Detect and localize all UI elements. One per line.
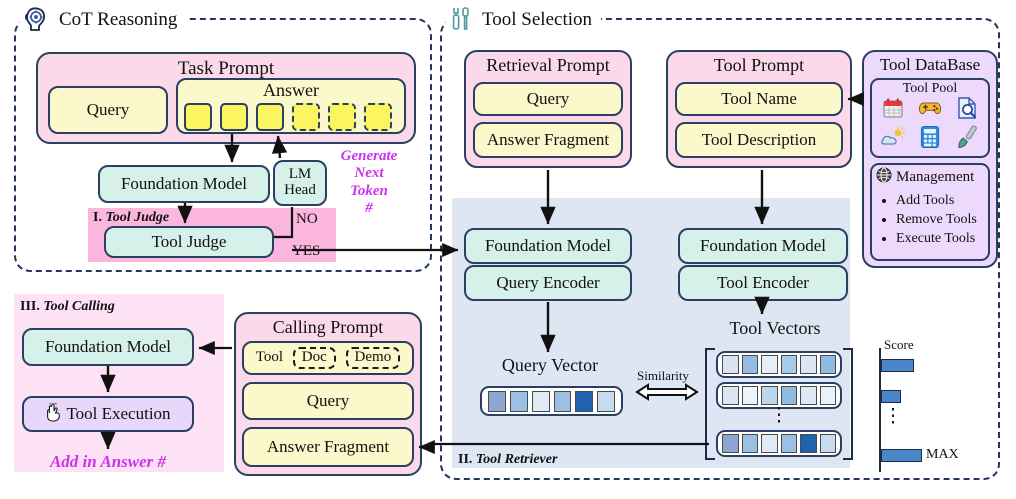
vector-cell <box>742 434 759 453</box>
calculator-icon[interactable] <box>920 125 940 154</box>
tool-vector-row-max <box>716 430 842 457</box>
tool-vectors-ellipsis: ⋮ <box>716 412 842 421</box>
vector-cell <box>488 391 506 412</box>
step-name-tool-judge: Tool Judge <box>105 210 169 225</box>
task-prompt-title: Task Prompt <box>38 59 414 79</box>
vector-cell <box>532 391 550 412</box>
step-number-3: III. <box>20 299 40 314</box>
vector-cell <box>575 391 593 412</box>
generate-next-token-note: Generate Next Token # <box>326 148 412 218</box>
answer-token-pending[interactable] <box>292 103 320 131</box>
tool-selection-header: Tool Selection <box>446 6 601 32</box>
vector-cell <box>781 434 798 453</box>
lm-head-box[interactable]: LM Head <box>273 160 327 206</box>
doc-chip[interactable]: Doc <box>293 347 336 369</box>
tool-judge-label: Tool Judge <box>152 233 227 251</box>
game-controller-icon[interactable] <box>918 97 942 124</box>
answer-token-pending[interactable] <box>328 103 356 131</box>
retrieval-field-label: Query <box>527 90 569 108</box>
query-foundation-model-box[interactable]: Foundation Model <box>464 228 632 264</box>
vector-cell <box>742 386 759 405</box>
answer-token-row <box>184 104 398 130</box>
tool-vectors-bracket-left <box>705 348 715 460</box>
vector-cell <box>510 391 528 412</box>
calling-prompt-field-answer-fragment[interactable]: Answer Fragment <box>242 427 414 467</box>
lm-head-label: LM Head <box>284 167 316 199</box>
globe-icon <box>876 167 892 188</box>
tool-chip-label: Tool <box>256 350 283 366</box>
vector-cell <box>722 434 739 453</box>
tool-prompt-field-tool-description[interactable]: Tool Description <box>675 122 843 158</box>
vector-cell <box>761 355 778 374</box>
step-name-tool-calling: Tool Calling <box>43 299 114 314</box>
query-vector <box>480 386 623 416</box>
wrench-screwdriver-icon <box>450 6 472 32</box>
calling-field-label: Query <box>307 392 349 410</box>
tool-retriever-step-label: II. Tool Retriever <box>458 452 557 468</box>
score-bar <box>881 390 901 403</box>
answer-token[interactable] <box>256 103 284 131</box>
retrieval-field-label: Answer Fragment <box>487 131 609 149</box>
tool-prompt-title: Tool Prompt <box>668 56 850 75</box>
score-bar <box>881 359 914 372</box>
branch-no-label: NO <box>296 211 318 228</box>
cot-reasoning-title: CoT Reasoning <box>54 10 182 29</box>
score-ellipsis: ⋮ <box>881 413 905 422</box>
tool-prompt-field-tool-name[interactable]: Tool Name <box>675 82 843 116</box>
vector-cell <box>742 355 759 374</box>
vector-cell <box>820 355 837 374</box>
management-header: Management <box>876 167 974 188</box>
query-label: Query <box>87 101 129 119</box>
tool-pool-title: Tool Pool <box>872 82 988 97</box>
vector-cell <box>722 355 739 374</box>
vector-cell <box>800 434 817 453</box>
tool-calling-band <box>14 294 224 472</box>
vector-cell <box>820 386 837 405</box>
cot-reasoning-header: CoT Reasoning <box>20 6 186 32</box>
add-in-answer-note: Add in Answer # <box>22 452 194 472</box>
generate-line-4: # <box>326 200 412 217</box>
tool-foundation-model-label: Foundation Model <box>700 237 826 255</box>
query-encoder-label: Query Encoder <box>496 274 599 292</box>
tool-vector-row <box>716 351 842 378</box>
tool-prompt-field-label: Tool Description <box>702 131 816 149</box>
calling-prompt-tool-row: Tool Doc Demo <box>242 341 414 375</box>
step-number-1: I. <box>93 210 102 225</box>
step-name-tool-retriever: Tool Retriever <box>476 452 558 467</box>
retrieval-prompt-field-query[interactable]: Query <box>473 82 623 116</box>
query-vector-label: Query Vector <box>470 355 630 376</box>
score-max-label: MAX <box>926 447 959 463</box>
vector-cell <box>781 386 798 405</box>
answer-token[interactable] <box>220 103 248 131</box>
answer-token[interactable] <box>184 103 212 131</box>
calling-prompt-title: Calling Prompt <box>236 318 420 337</box>
calendar-icon[interactable] <box>882 97 904 124</box>
tool-database-title: Tool DataBase <box>864 56 996 74</box>
weather-icon[interactable] <box>881 127 905 152</box>
vector-cell <box>722 386 739 405</box>
generate-line-2: Next <box>326 165 412 182</box>
answer-token-pending[interactable] <box>364 103 392 131</box>
calling-field-label: Answer Fragment <box>267 438 389 456</box>
vector-cell <box>800 386 817 405</box>
tool-vectors-bracket-right <box>843 348 853 460</box>
tool-execution-label: Tool Execution <box>66 405 170 423</box>
tool-judge-box[interactable]: Tool Judge <box>104 226 274 258</box>
step-number-2: II. <box>458 452 472 467</box>
vector-cell <box>554 391 572 412</box>
tool-foundation-model-box[interactable]: Foundation Model <box>678 228 848 264</box>
vector-cell <box>761 434 778 453</box>
similarity-label: Similarity <box>629 368 697 384</box>
list-item[interactable]: Add Tools <box>896 192 988 211</box>
cot-foundation-model-box[interactable]: Foundation Model <box>98 165 270 203</box>
tool-encoder-box[interactable]: Tool Encoder <box>678 265 848 301</box>
query-encoder-box[interactable]: Query Encoder <box>464 265 632 301</box>
retrieval-prompt-field-answer-fragment[interactable]: Answer Fragment <box>473 122 623 158</box>
management-list: Add Tools Remove Tools Execute Tools <box>882 192 988 249</box>
retrieval-prompt-title: Retrieval Prompt <box>466 56 630 75</box>
query-foundation-model-label: Foundation Model <box>485 237 611 255</box>
demo-chip[interactable]: Demo <box>346 347 401 369</box>
calling-foundation-model-label: Foundation Model <box>45 338 171 356</box>
vector-cell <box>820 434 837 453</box>
tool-pool-icon-grid <box>874 96 986 154</box>
tool-prompt-field-label: Tool Name <box>721 90 797 108</box>
document-search-icon[interactable] <box>956 96 978 125</box>
management-title: Management <box>896 169 974 186</box>
list-item[interactable]: Remove Tools <box>896 211 988 230</box>
vector-cell <box>761 386 778 405</box>
calling-foundation-model-box[interactable]: Foundation Model <box>22 328 194 366</box>
paintbrush-icon[interactable] <box>956 125 978 154</box>
head-gear-icon <box>24 6 48 32</box>
vector-cell <box>781 355 798 374</box>
score-axis-label: Score <box>884 337 914 353</box>
tool-encoder-label: Tool Encoder <box>717 274 809 292</box>
pointing-hand-icon <box>45 402 63 427</box>
tool-execution-box[interactable]: Tool Execution <box>22 396 194 432</box>
answer-label: Answer <box>263 81 319 100</box>
vector-cell <box>597 391 615 412</box>
generate-line-1: Generate <box>326 148 412 165</box>
tool-calling-step-label: III. Tool Calling <box>20 299 115 315</box>
calling-prompt-field-query[interactable]: Query <box>242 382 414 420</box>
score-bar-max <box>881 449 922 462</box>
tool-vectors-label: Tool Vectors <box>690 318 860 339</box>
vector-cell <box>800 355 817 374</box>
tool-selection-title: Tool Selection <box>477 10 597 29</box>
cot-foundation-model-label: Foundation Model <box>121 175 247 193</box>
generate-line-3: Token <box>326 183 412 200</box>
list-item[interactable]: Execute Tools <box>896 230 988 249</box>
task-prompt-query-field[interactable]: Query <box>48 86 168 134</box>
tool-judge-step-label: I. Tool Judge <box>93 210 169 226</box>
branch-yes-label: YES <box>292 243 320 260</box>
